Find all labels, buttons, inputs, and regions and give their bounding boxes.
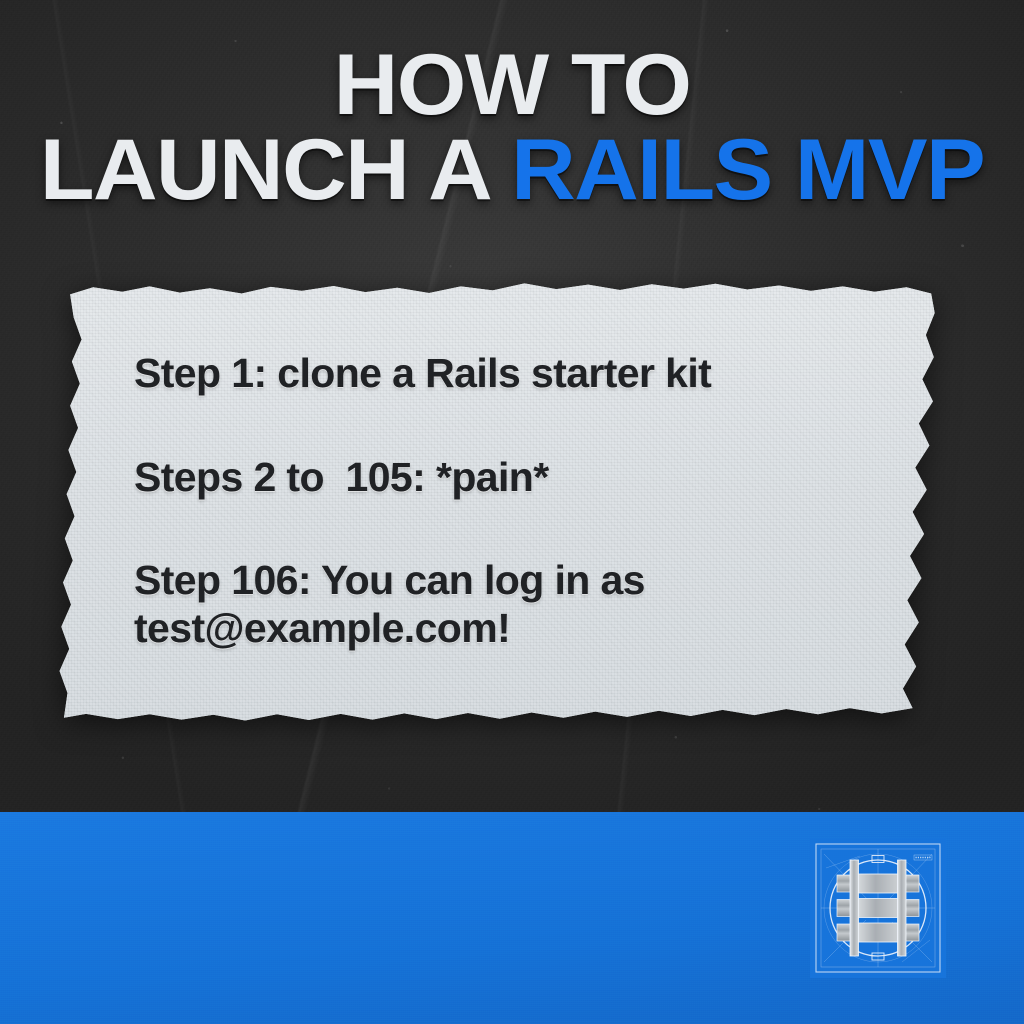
blueprint-logo-icon bbox=[810, 838, 946, 978]
headline-line-1: HOW TO bbox=[0, 46, 1024, 125]
poster-canvas: HOW TO LAUNCH A RAILS MVP Step 1: clone … bbox=[0, 0, 1024, 1024]
headline-line-2-accent: RAILS MVP bbox=[511, 122, 984, 218]
step-item-3: Step 106: You can log in as test@example… bbox=[134, 557, 892, 652]
torn-paper-card: Step 1: clone a Rails starter kit Steps … bbox=[56, 282, 940, 724]
headline-line-2-white: LAUNCH A bbox=[40, 122, 511, 218]
headline-block: HOW TO LAUNCH A RAILS MVP bbox=[0, 46, 1024, 210]
step-item-2: Steps 2 to 105: *pain* bbox=[134, 454, 892, 502]
step-item-1: Step 1: clone a Rails starter kit bbox=[134, 350, 892, 398]
headline-line-2: LAUNCH A RAILS MVP bbox=[0, 131, 1024, 210]
steps-list: Step 1: clone a Rails starter kit Steps … bbox=[134, 350, 892, 652]
footer-band bbox=[0, 812, 1024, 1024]
